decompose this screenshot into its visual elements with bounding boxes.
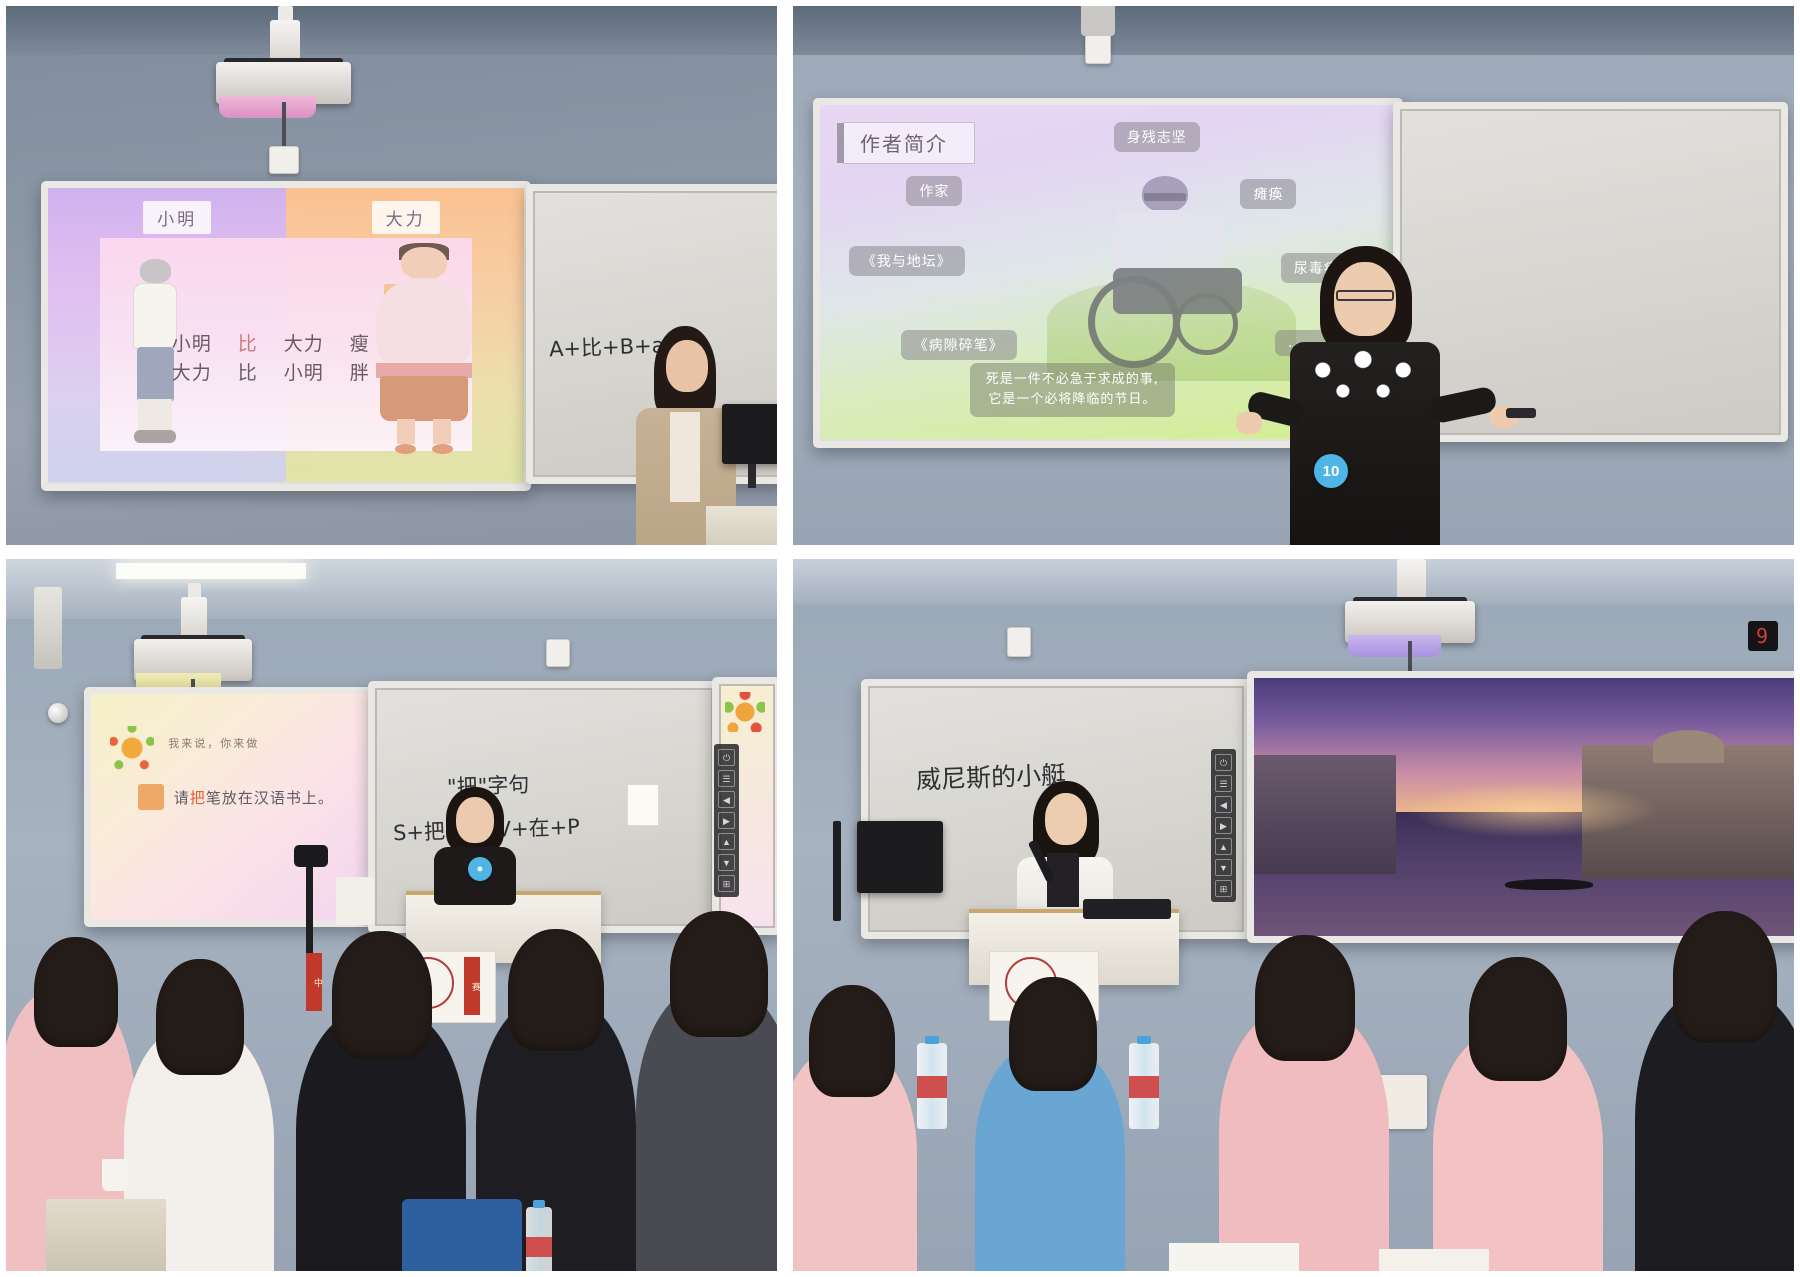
teacher-hand-left (1236, 412, 1262, 434)
ceiling-light (116, 563, 306, 579)
teacher-head (1045, 793, 1087, 845)
desk-monitor[interactable] (857, 821, 943, 893)
wall-speaker (34, 587, 62, 669)
down-icon[interactable]: ▼ (1215, 859, 1232, 876)
heavy-boy-illustration (372, 247, 477, 454)
projector-top-left (216, 36, 351, 146)
projected-slide: 小明 大力 小明比大力瘦 (48, 188, 524, 484)
water-bottle-right[interactable] (1129, 1043, 1159, 1129)
slide-instruction: 请把笔放在汉语书上。 (174, 787, 334, 808)
sun-icon (110, 726, 154, 770)
smartboard-left[interactable]: 小明 大力 小明比大力瘦 (41, 181, 531, 491)
desk-paper (1169, 1243, 1299, 1271)
quote-line-1: 死是一件不必急于求成的事, (986, 370, 1159, 390)
quote-line-2: 它是一个必将降临的节日。 (986, 390, 1159, 410)
security-camera-icon (48, 703, 68, 723)
comparison-sentences: 小明比大力瘦 大力比小明胖 (172, 330, 370, 387)
input-icon[interactable]: ⊞ (1215, 880, 1232, 897)
paper-cup[interactable] (102, 1159, 128, 1191)
desk-surface (706, 506, 777, 545)
wall-socket[interactable] (1085, 34, 1111, 64)
sticky-note[interactable] (627, 784, 659, 826)
chair-back (402, 1199, 522, 1271)
ceiling-bracket (1081, 6, 1115, 36)
volume-icon[interactable]: ◀ (1215, 796, 1232, 813)
audience-head (156, 959, 244, 1075)
play-icon[interactable]: ▶ (718, 812, 735, 829)
projected-slide: 我来说，你来做 请把笔放在汉语书上。 (91, 694, 367, 920)
sentence1-object: 大力 (284, 333, 324, 355)
sentence2-object: 小明 (284, 362, 324, 384)
ceiling-strip (6, 6, 777, 55)
venice-image (1254, 678, 1794, 936)
sentence1-compare: 比 (238, 333, 258, 355)
wall-socket-right[interactable] (546, 639, 570, 667)
slide-tag-2: 作家 (906, 176, 962, 206)
decor-flower-icon (725, 692, 765, 732)
slide-heading: 我来说，你来做 (168, 735, 259, 751)
teacher-figure: 10 (1248, 246, 1478, 545)
audience-head (1673, 911, 1777, 1043)
sentence2-adjective: 胖 (350, 362, 370, 384)
instruction-suffix: 笔放在汉语书上。 (206, 789, 334, 807)
sentence2-compare: 比 (238, 362, 258, 384)
student-desk (46, 1199, 166, 1271)
audience-head (1255, 935, 1355, 1061)
teacher-head (666, 340, 708, 392)
instruction-prefix: 请 (174, 789, 190, 807)
presenter-remote[interactable] (1506, 408, 1536, 418)
power-icon[interactable]: ⏻ (718, 749, 735, 766)
smartboard-button-panel[interactable]: ⏻ ☰ ◀ ▶ ▲ ▼ ⊞ (1211, 749, 1236, 902)
teacher-head (456, 797, 494, 843)
lace-collar (1296, 342, 1429, 412)
sentence1-adjective: 瘦 (350, 333, 370, 355)
audience-head (34, 937, 118, 1047)
water-bottle-left[interactable] (917, 1043, 947, 1129)
monitor-arm[interactable] (833, 821, 841, 921)
menu-icon[interactable]: ☰ (1215, 775, 1232, 792)
input-icon[interactable]: ⊞ (718, 875, 735, 892)
orange-marker-icon (138, 784, 164, 810)
slide-title: 作者简介 (843, 122, 975, 164)
desk-monitor[interactable] (722, 404, 777, 464)
slide-quote: 死是一件不必急于求成的事, 它是一个必将降临的节日。 (970, 363, 1175, 417)
slide-tag-3: 瘫痪 (1240, 179, 1296, 209)
teacher-figure: ● (424, 787, 524, 905)
sentence2-subject: 大力 (172, 362, 212, 384)
teacher-glasses (1336, 290, 1394, 301)
photo-collage: 小明 大力 小明比大力瘦 (0, 0, 1800, 1277)
up-icon[interactable]: ▲ (1215, 838, 1232, 855)
microphone-head (294, 845, 328, 867)
slide-tag-4: 《我与地坛》 (849, 246, 965, 276)
digital-clock: 9 (1748, 621, 1778, 651)
panel-bottom-left: 我来说，你来做 请把笔放在汉语书上。 "把"字句 S+把+O+V+在+P ⏻ ☰… (6, 559, 777, 1271)
smartboard-venice[interactable] (1247, 671, 1794, 943)
monitor-stand (748, 464, 756, 488)
down-icon[interactable]: ▼ (718, 854, 735, 871)
water-bottle[interactable] (526, 1207, 552, 1271)
smartboard-left[interactable]: 我来说，你来做 请把笔放在汉语书上。 (84, 687, 374, 927)
audience-head (508, 929, 604, 1051)
instruction-highlight: 把 (190, 789, 206, 807)
audience-head (1009, 977, 1097, 1091)
document-camera[interactable] (336, 877, 374, 925)
panel-top-right: 作者简介 身残志坚 作家 瘫痪 《我与地坛》 尿毒症 《病隙碎笔》 …… 死是一… (793, 6, 1794, 545)
play-icon[interactable]: ▶ (1215, 817, 1232, 834)
sentence1-subject: 小明 (172, 333, 212, 355)
smartboard-button-panel[interactable]: ⏻ ☰ ◀ ▶ ▲ ▼ ⊞ (714, 744, 739, 897)
audience-head (809, 985, 895, 1097)
control-panel[interactable] (1083, 899, 1171, 919)
wall-socket[interactable] (269, 146, 299, 174)
slide-tag-1: 身残志坚 (1114, 122, 1200, 152)
panel-bottom-right: 9 威尼斯的小艇 ⏻ ☰ ◀ ▶ ▲ ▼ ⊞ (793, 559, 1794, 1271)
panel-top-left: 小明 大力 小明比大力瘦 (6, 6, 777, 545)
power-icon[interactable]: ⏻ (1215, 754, 1232, 771)
slide-label-right: 大力 (372, 201, 440, 234)
ceiling-strip (793, 6, 1794, 55)
red-banner: 中 (306, 953, 322, 1011)
projector-lens-glow (1348, 635, 1442, 657)
audience-head (1469, 957, 1567, 1081)
audience-head (670, 911, 768, 1037)
wall-socket-left[interactable] (1007, 627, 1031, 657)
contestant-number-badge: ● (468, 857, 492, 881)
audience-head (332, 931, 432, 1059)
up-icon[interactable]: ▲ (718, 833, 735, 850)
teacher-inner-top (670, 412, 700, 502)
contestant-number-badge: 10 (1314, 454, 1348, 488)
volume-icon[interactable]: ◀ (718, 791, 735, 808)
menu-icon[interactable]: ☰ (718, 770, 735, 787)
projector-bottom-right (1345, 575, 1475, 685)
ceiling-area (793, 559, 1794, 605)
slide-label-left: 小明 (143, 201, 211, 234)
desk-paper-2 (1379, 1249, 1489, 1271)
projector-lens-glow (219, 96, 316, 118)
slide-tag-6: 《病隙碎笔》 (901, 330, 1017, 360)
projector-pole (282, 102, 286, 148)
board-tray (48, 482, 524, 491)
red-banner-2: 赛 (464, 957, 480, 1015)
